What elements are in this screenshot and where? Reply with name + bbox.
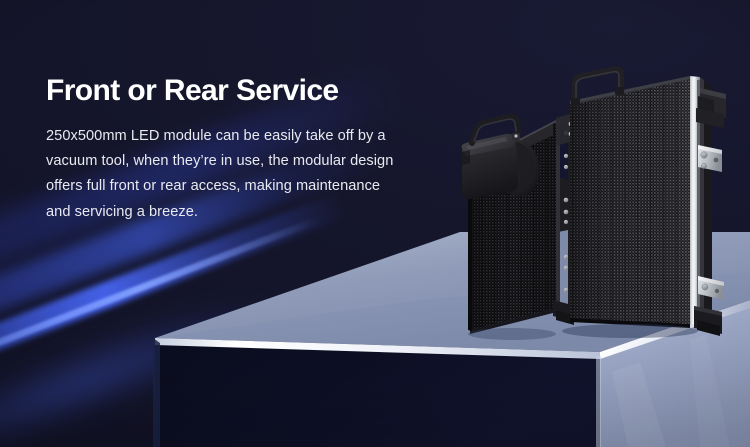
body-paragraph: 250x500mm LED module can be easily take … [46, 124, 406, 225]
page-title: Front or Rear Service [46, 74, 416, 107]
vacuum-suction-tool [462, 117, 544, 200]
rail-bolts [564, 131, 569, 292]
mounting-bracket-upper [696, 88, 726, 128]
banner-root: Front or Rear Service 250x500mm LED modu… [0, 0, 750, 447]
base-foot [694, 306, 722, 336]
front-led-panel [565, 70, 697, 332]
copy-block: Front or Rear Service 250x500mm LED modu… [46, 74, 416, 225]
